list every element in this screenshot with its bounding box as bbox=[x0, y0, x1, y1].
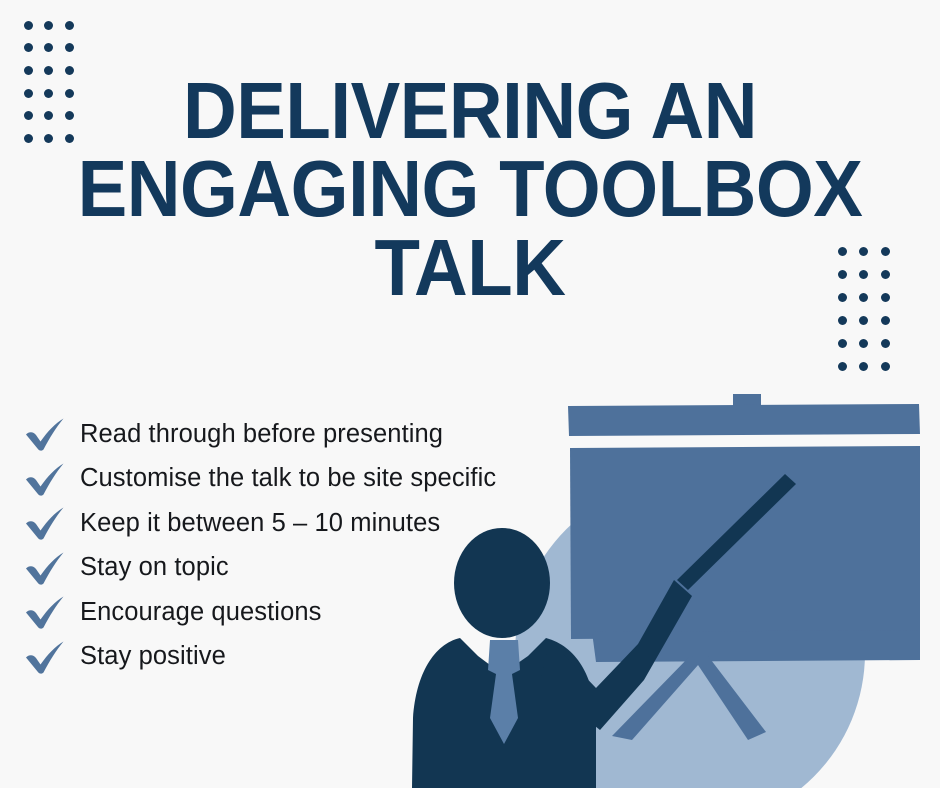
decorative-dot bbox=[881, 339, 890, 348]
title-line-1: Delivering an bbox=[33, 72, 907, 150]
check-mark-icon bbox=[22, 503, 68, 543]
title-line-3: Talk bbox=[33, 229, 907, 307]
title-line-2: Engaging Toolbox bbox=[33, 150, 907, 228]
easel-top-bar bbox=[568, 404, 920, 436]
decorative-dot bbox=[881, 316, 890, 325]
decorative-dot bbox=[838, 339, 847, 348]
list-item-label: Stay on topic bbox=[68, 553, 229, 582]
decorative-dot bbox=[24, 21, 33, 30]
presentation-board bbox=[570, 446, 920, 639]
decorative-dot bbox=[881, 362, 890, 371]
list-item-label: Read through before presenting bbox=[68, 420, 443, 449]
decorative-dot bbox=[838, 316, 847, 325]
decorative-dot bbox=[859, 339, 868, 348]
check-mark-icon bbox=[22, 592, 68, 632]
decorative-dot bbox=[859, 316, 868, 325]
list-item-label: Stay positive bbox=[68, 642, 226, 671]
check-mark-icon bbox=[22, 637, 68, 677]
decorative-dot bbox=[838, 362, 847, 371]
decorative-dot bbox=[44, 43, 53, 52]
page-title: Delivering an Engaging Toolbox Talk bbox=[0, 72, 940, 307]
list-item-label: Keep it between 5 – 10 minutes bbox=[68, 509, 440, 538]
decorative-dot bbox=[24, 43, 33, 52]
presenter-at-easel-illustration bbox=[400, 388, 940, 788]
presenter-head bbox=[454, 528, 550, 638]
decorative-dot bbox=[65, 21, 74, 30]
decorative-dot bbox=[859, 362, 868, 371]
check-mark-icon bbox=[22, 548, 68, 588]
decorative-dot bbox=[65, 43, 74, 52]
poster-canvas: Delivering an Engaging Toolbox Talk Read… bbox=[0, 0, 940, 788]
decorative-dot bbox=[44, 21, 53, 30]
list-item-label: Encourage questions bbox=[68, 598, 322, 627]
check-mark-icon bbox=[22, 459, 68, 499]
check-mark-icon bbox=[22, 414, 68, 454]
